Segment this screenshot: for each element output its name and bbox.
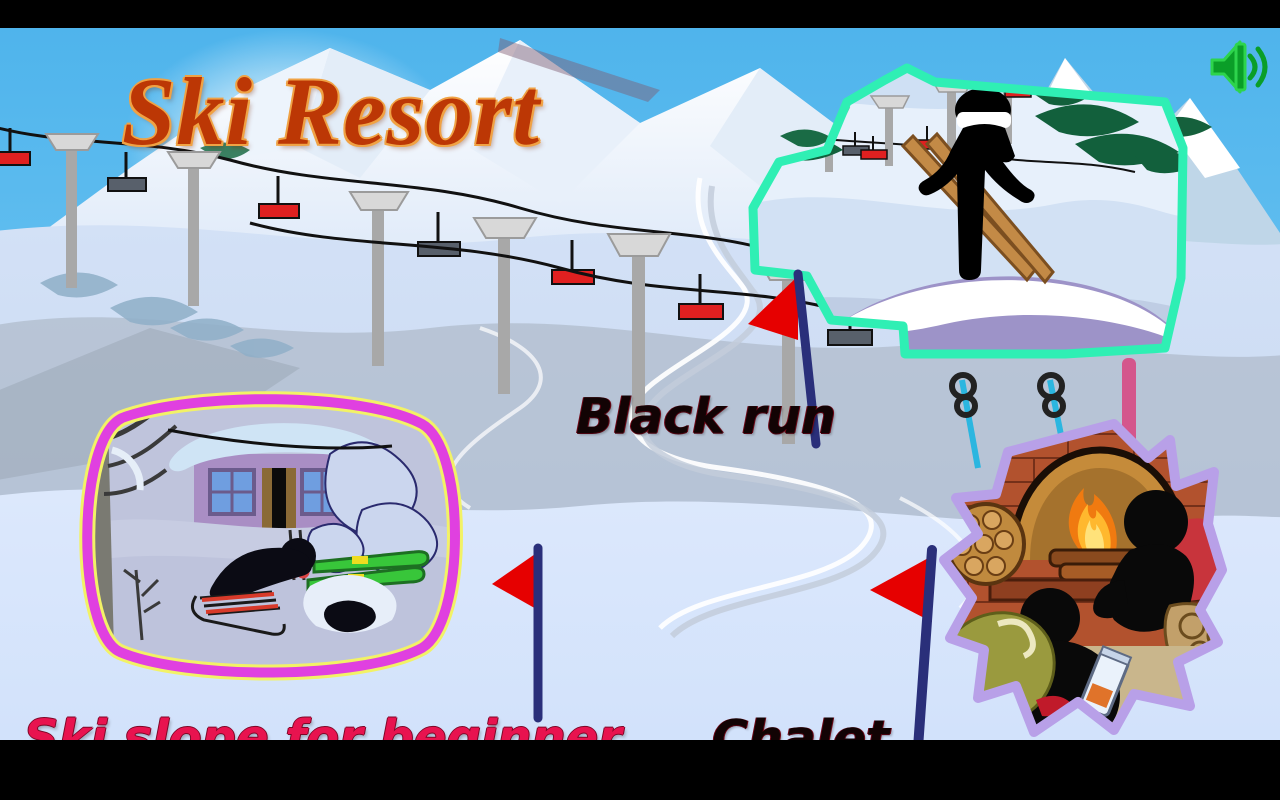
hotspot-label-chalet[interactable]: Chalet	[712, 710, 889, 740]
page-title: Ski Resort	[122, 62, 540, 163]
sound-toggle-button[interactable]	[1206, 34, 1272, 100]
hotspot-ski-slope-for-beginner[interactable]	[62, 390, 482, 682]
flag-marker-chalet[interactable]	[860, 520, 980, 740]
flag-marker-beginner[interactable]	[480, 520, 600, 740]
flag-pennant	[748, 276, 798, 340]
hotspot-label-ski-slope-for-beginner[interactable]: Ski slope for beginner	[24, 710, 622, 740]
hotspot-chalet[interactable]	[938, 410, 1238, 740]
speaker-icon[interactable]	[1206, 34, 1272, 100]
hotspot-label-black-run[interactable]: Black run	[576, 388, 836, 445]
game-stage: Ski Resort	[0, 0, 1280, 800]
beginner-picture	[62, 390, 482, 682]
ski-resort-scene: Ski Resort	[0, 28, 1280, 740]
flag-pennant	[492, 552, 538, 610]
letterbox-bottom	[0, 740, 1280, 800]
letterbox-top	[0, 0, 1280, 28]
